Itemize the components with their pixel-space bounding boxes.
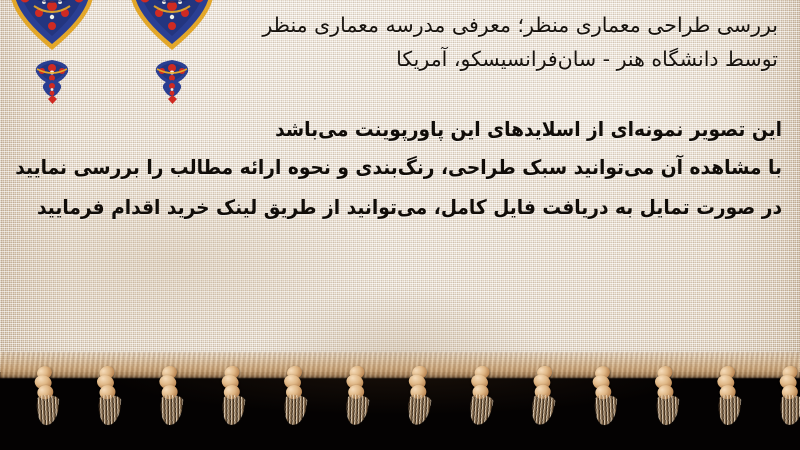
fringe-brush xyxy=(779,394,800,426)
medallion-icon xyxy=(8,0,96,52)
body-line-3: در صورت تمایل به دریافت فایل کامل، می‌تو… xyxy=(66,187,782,227)
slide-canvas: بررسی طراحی معماری منظر؛ معرفی مدرسه معم… xyxy=(0,0,800,450)
fringe-brush xyxy=(97,394,121,425)
fringe-brush xyxy=(594,395,618,426)
fringe-brush xyxy=(36,395,60,426)
fringe-tassel xyxy=(527,361,563,443)
fringe-tassel xyxy=(282,362,312,442)
fringe-tassel xyxy=(31,361,67,443)
fringe-brush xyxy=(159,394,184,426)
persian-medallion-right xyxy=(128,0,216,104)
fringe-brush xyxy=(529,393,556,427)
fringe-brush xyxy=(467,393,494,426)
fringe-brush xyxy=(717,394,742,426)
medallion-pendant-tip-icon xyxy=(168,95,177,104)
persian-medallion-left xyxy=(8,0,96,104)
body-line-2: با مشاهده آن می‌توانید سبک طراحی، رنگ‌بن… xyxy=(66,147,782,187)
fringe-tassel xyxy=(466,361,500,442)
medallion-pendant-tip-icon xyxy=(48,95,57,104)
fringe-tassel xyxy=(715,362,748,443)
fringe-brush xyxy=(655,394,679,425)
fringe-brush xyxy=(282,394,307,426)
fringe-brush xyxy=(406,393,432,426)
fringe-tassel xyxy=(777,362,800,443)
fringe-tassel xyxy=(157,362,190,443)
fringe-brush xyxy=(344,394,370,427)
fringe-tassel xyxy=(94,361,128,442)
fringe-tassel xyxy=(405,362,438,443)
slide-title: بررسی طراحی معماری منظر؛ معرفی مدرسه معم… xyxy=(206,8,778,76)
body-line-1: این تصویر نمونه‌ای از اسلایدهای این پاور… xyxy=(66,112,782,147)
medallion-icon xyxy=(128,0,216,52)
fringe-tassel xyxy=(589,361,625,443)
fringe-tassel xyxy=(343,362,374,443)
fringe-tassel xyxy=(652,361,686,442)
slide-body: این تصویر نمونه‌ای از اسلایدهای این پاور… xyxy=(12,112,782,227)
fringe-brush xyxy=(221,394,246,426)
fringe-tassel xyxy=(219,362,250,443)
